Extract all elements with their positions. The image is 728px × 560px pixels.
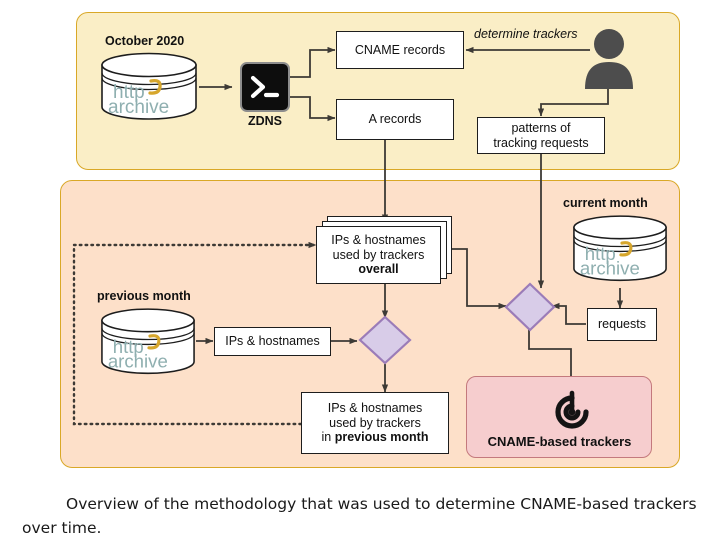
database-icon-previous-month: http archive <box>99 307 197 375</box>
svg-text:archive: archive <box>580 257 640 278</box>
prev-result-line-3-prefix: in <box>322 430 335 444</box>
overall-line-2: used by trackers <box>333 248 425 263</box>
cname-based-trackers-label: CNAME-based trackers <box>472 434 647 449</box>
determine-trackers-label: determine trackers <box>474 27 578 41</box>
database-icon-october: http archive <box>99 52 199 120</box>
previous-month-result-box: IPs & hostnames used by trackers in prev… <box>301 392 449 454</box>
patterns-line-1: patterns of <box>511 121 570 136</box>
previous-month-label: previous month <box>97 289 191 303</box>
decision-diamond-current <box>503 281 557 338</box>
overall-line-1: IPs & hostnames <box>331 233 426 248</box>
figure-caption: Overview of the methodology that was use… <box>22 492 712 540</box>
decision-diamond-previous <box>357 314 413 371</box>
zdns-label: ZDNS <box>240 114 290 128</box>
tracker-radar-icon <box>548 390 596 439</box>
prev-result-line-3: in previous month <box>322 430 429 445</box>
prev-result-line-3-bold: previous month <box>335 430 429 444</box>
current-month-label: current month <box>563 196 648 210</box>
overall-trackers-box: IPs & hostnames used by trackers overall <box>316 226 441 284</box>
cname-records-box: CNAME records <box>336 31 464 69</box>
overall-line-3: overall <box>358 262 398 277</box>
person-silhouette-icon <box>581 27 637 94</box>
patterns-line-2: tracking requests <box>493 136 588 151</box>
october-2020-label: October 2020 <box>105 34 184 48</box>
patterns-of-tracking-requests-box: patterns of tracking requests <box>477 117 605 154</box>
a-records-box: A records <box>336 99 454 140</box>
requests-box: requests <box>587 308 657 341</box>
figure-canvas: October 2020 http archive ZDNS CNAME rec… <box>0 0 728 560</box>
svg-text:archive: archive <box>108 97 169 118</box>
terminal-prompt-icon <box>240 62 290 112</box>
database-icon-current-month: http archive <box>571 214 669 282</box>
ips-hostnames-box: IPs & hostnames <box>214 327 331 356</box>
prev-result-line-1: IPs & hostnames <box>328 401 423 416</box>
svg-text:archive: archive <box>108 350 168 371</box>
prev-result-line-2: used by trackers <box>329 416 421 431</box>
